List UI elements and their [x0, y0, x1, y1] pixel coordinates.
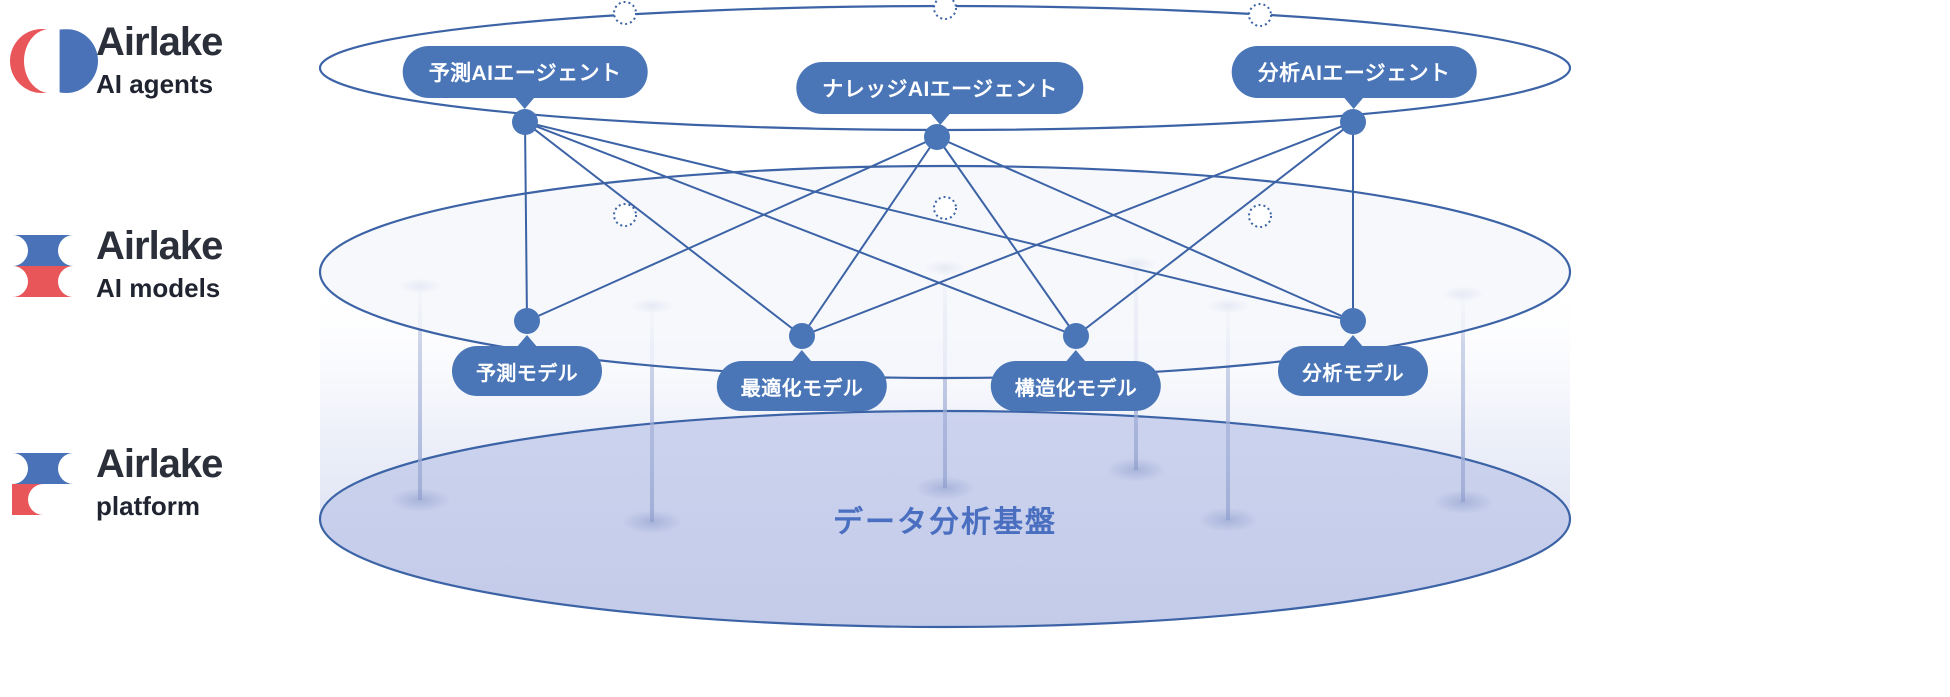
dashed-models-mid-icon [934, 197, 956, 219]
pillar-shadow [1433, 490, 1493, 514]
node-model-optimization[interactable] [789, 323, 815, 349]
pointer-tail-icon [516, 335, 538, 348]
logo-ai-agents[interactable]: Airlake AI agents [10, 22, 222, 101]
node-model-structuring[interactable] [1063, 323, 1089, 349]
node-agent-analytics[interactable] [1340, 109, 1366, 135]
platform-base-label: データ分析基盤 [833, 497, 1057, 541]
airlake-wedge-mark-icon [10, 447, 82, 519]
label-text: 分析モデル [1302, 357, 1404, 386]
pointer-tail-icon [929, 112, 951, 125]
pointer-tail-icon [1343, 96, 1365, 109]
pointer-tail-icon [514, 96, 536, 109]
pointer-tail-icon [791, 350, 813, 363]
logo-subtitle-ai-models: AI models [96, 272, 222, 305]
brand-logo-column: Airlake AI agents Airlake AI models [0, 0, 300, 697]
airlake-circle-mark-icon [10, 25, 82, 97]
pillar-shadow [390, 488, 450, 512]
label-model-analytics[interactable]: 分析モデル [1278, 346, 1428, 396]
dashed-agents-left-icon [614, 2, 636, 24]
logo-platform[interactable]: Airlake platform [10, 444, 222, 523]
dashed-agents-right-icon [1249, 4, 1271, 26]
logo-subtitle-platform: platform [96, 490, 222, 523]
label-agent-knowledge[interactable]: ナレッジAIエージェント [796, 62, 1083, 114]
pointer-tail-icon [1342, 335, 1364, 348]
pillar-shadow [622, 510, 682, 534]
label-text: 予測モデル [476, 357, 578, 386]
label-model-structuring[interactable]: 構造化モデル [991, 361, 1161, 411]
pillar-shadow [1198, 508, 1258, 532]
dashed-agents-mid-icon [934, 0, 956, 19]
label-text: 構造化モデル [1015, 372, 1137, 401]
logo-subtitle-ai-agents: AI agents [96, 68, 222, 101]
logo-ai-models[interactable]: Airlake AI models [10, 226, 222, 305]
dashed-models-right-icon [1249, 205, 1271, 227]
node-model-analytics[interactable] [1340, 308, 1366, 334]
label-model-optimization[interactable]: 最適化モデル [717, 361, 887, 411]
diagram-page: Airlake AI agents Airlake AI models [0, 0, 1950, 697]
label-agent-analytics[interactable]: 分析AIエージェント [1232, 46, 1477, 98]
label-text: ナレッジAIエージェント [822, 73, 1057, 103]
logo-brand-text: Airlake [96, 22, 222, 62]
label-text: 分析AIエージェント [1258, 57, 1451, 87]
label-model-forecast[interactable]: 予測モデル [452, 346, 602, 396]
label-text: 最適化モデル [741, 372, 863, 401]
node-model-forecast[interactable] [514, 308, 540, 334]
pillar-shadow [1106, 458, 1166, 482]
logo-brand-text: Airlake [96, 444, 222, 484]
node-agent-forecast[interactable] [512, 109, 538, 135]
label-text: 予測AIエージェント [429, 57, 622, 87]
pointer-tail-icon [1065, 350, 1087, 363]
node-agent-knowledge[interactable] [924, 124, 950, 150]
dashed-models-left-icon [614, 204, 636, 226]
architecture-diagram: 予測AIエージェントナレッジAIエージェント分析AIエージェント予測モデル最適化… [300, 0, 1950, 697]
label-agent-forecast[interactable]: 予測AIエージェント [403, 46, 648, 98]
logo-brand-text: Airlake [96, 226, 222, 266]
airlake-butterfly-mark-icon [10, 229, 82, 301]
